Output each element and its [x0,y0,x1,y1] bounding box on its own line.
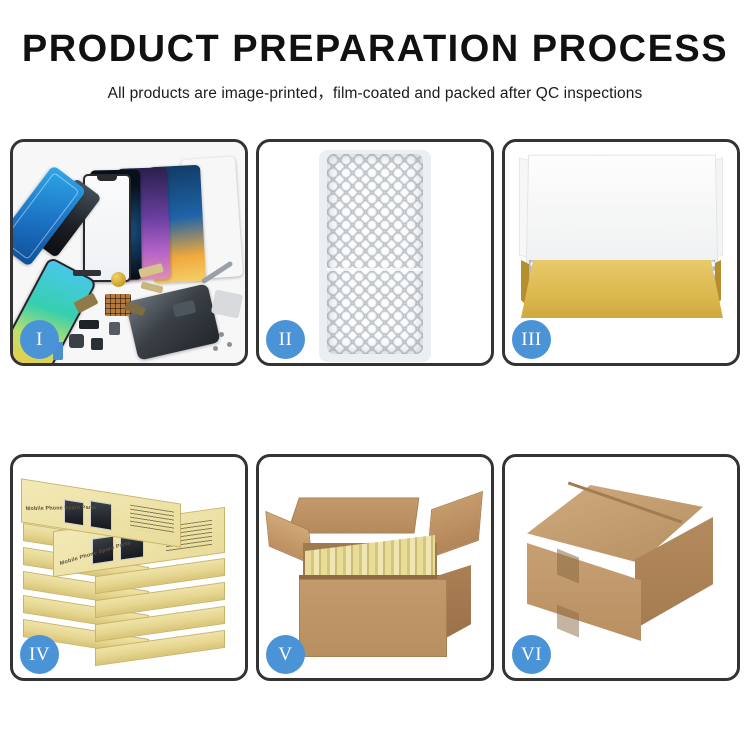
phone-back-housing [125,283,220,360]
part-earpiece-bar [73,270,101,276]
step-badge-2: II [266,320,305,359]
product-preparation-page: PRODUCT PREPARATION PROCESS All products… [0,0,750,750]
carton-front-panel [299,579,447,657]
page-title: PRODUCT PREPARATION PROCESS [0,30,750,70]
box-lid-back [526,155,718,263]
part-camera-module [69,334,84,348]
box-body-yellow [521,260,723,318]
page-header: PRODUCT PREPARATION PROCESS All products… [0,0,750,103]
part-screw-3 [213,346,218,351]
part-connector-2 [109,322,120,335]
bubble-wrap-sheet [327,154,423,354]
step-card-5: V [256,454,494,681]
part-flex-cable-2 [140,281,163,293]
step-card-2: II [256,139,494,366]
process-step-grid: I II III [10,139,740,681]
part-screw-2 [227,342,232,347]
page-subtitle: All products are image-printed，film-coat… [0,81,750,103]
retail-box-screen-art-l1 [64,499,84,526]
part-screw-1 [219,332,224,337]
part-speaker-coil [111,272,126,287]
step-badge-3: III [512,320,551,359]
step-badge-1: I [20,320,59,359]
part-connector-1 [79,320,99,329]
part-vibrator-motor [91,338,103,350]
bubble-wrap-seam [327,268,423,271]
step-card-3: III [502,139,740,366]
step-card-1: I [10,139,248,366]
step-card-6: VI [502,454,740,681]
tool-opening-pick [211,289,243,318]
step-badge-5: V [266,635,305,674]
step-badge-6: VI [512,635,551,674]
retail-box-label-left: Mobile Phone Spare Parts [25,505,96,512]
step-card-4: Mobile Phone Spare Parts Mobile Phone Sp… [10,454,248,681]
step-badge-4: IV [20,635,59,674]
